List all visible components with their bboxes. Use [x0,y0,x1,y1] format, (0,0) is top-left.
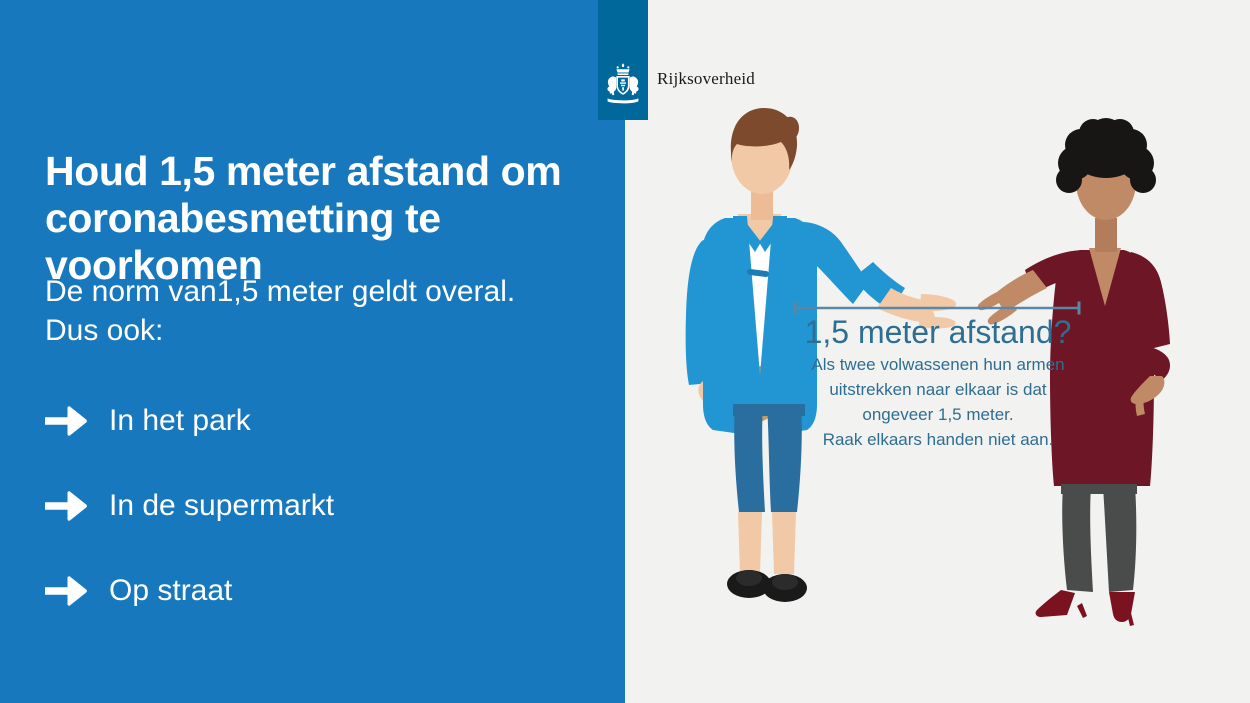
caption-line-1: Als twee volwassenen hun armen [780,353,1096,378]
subtitle-line-2: Dus ook: [45,311,605,350]
caption-body: Als twee volwassenen hun armen uitstrekk… [780,353,1096,453]
arrow-right-icon [45,406,87,436]
list-item: In de supermarkt [45,463,605,548]
page-subtitle: De norm van1,5 meter geldt overal. Dus o… [45,272,605,350]
arrow-right-icon [45,491,87,521]
list-item-label: In de supermarkt [109,491,334,521]
list-item-label: Op straat [109,576,232,606]
caption-title: 1,5 meter afstand? [780,314,1096,351]
page-title: Houd 1,5 meter afstand om coronabesmetti… [45,148,605,289]
caption-line-4: Raak elkaars handen niet aan. [780,428,1096,453]
distance-explanation-caption: 1,5 meter afstand? Als twee volwassenen … [780,314,1096,453]
poster-root: Houd 1,5 meter afstand om coronabesmetti… [0,0,1250,703]
caption-line-3: ongeveer 1,5 meter. [780,403,1096,428]
list-item: Op straat [45,548,605,633]
list-item-label: In het park [109,406,251,436]
headline-line-1: Houd 1,5 meter afstand om [45,148,605,195]
list-item: In het park [45,378,605,463]
bullet-list: In het park In de supermarkt Op straat [45,378,605,633]
subtitle-line-1: De norm van1,5 meter geldt overal. [45,272,605,311]
caption-line-2: uitstrekken naar elkaar is dat [780,378,1096,403]
arrow-right-icon [45,576,87,606]
